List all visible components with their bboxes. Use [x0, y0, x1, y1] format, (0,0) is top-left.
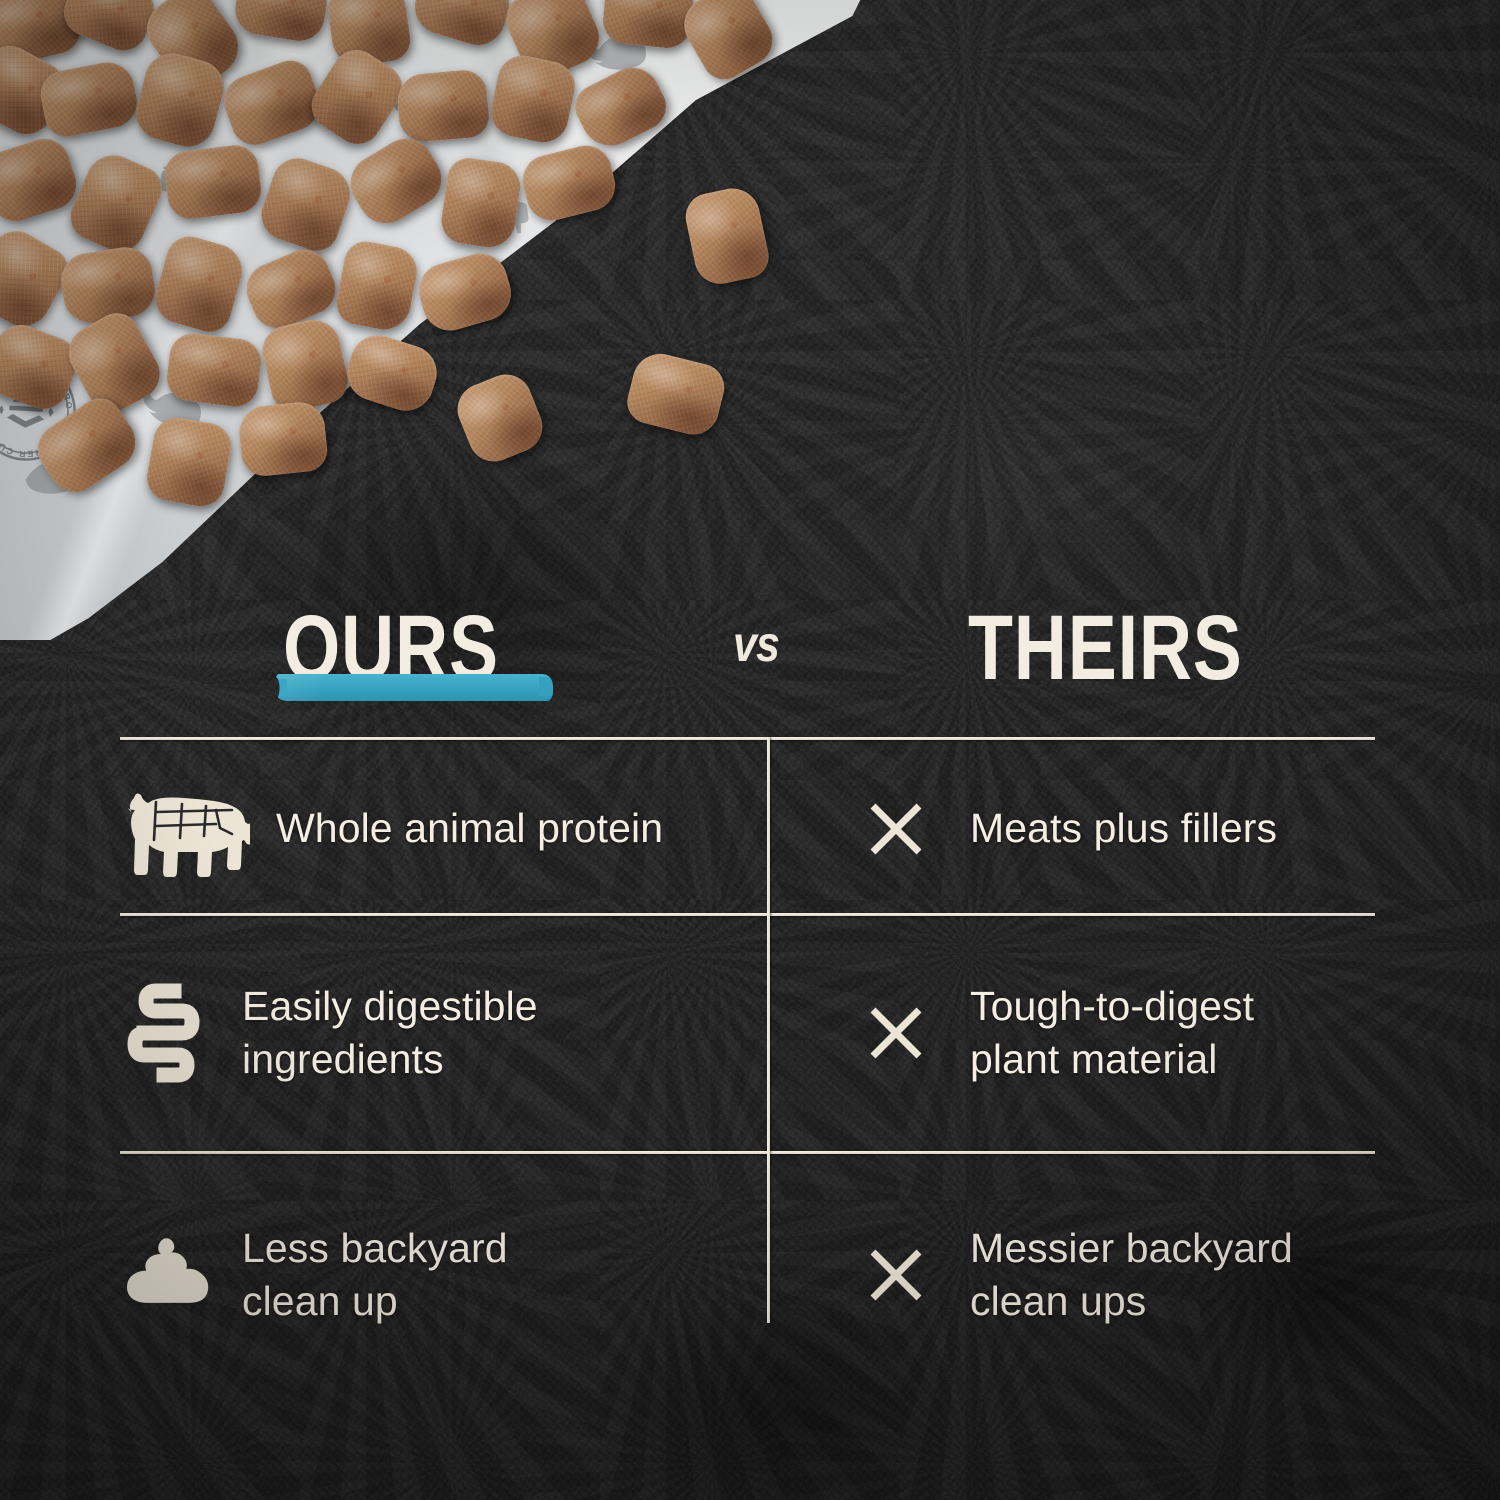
row-text-ours: Easily digestible ingredients	[242, 980, 538, 1087]
table-rule-middle	[120, 913, 1375, 916]
cow-butcher-cuts-icon	[120, 780, 250, 878]
table-rule-bottom	[120, 1151, 1375, 1154]
table-row: Tough-to-digest plant material	[848, 968, 1388, 1098]
table-row: Whole animal protein	[120, 776, 760, 881]
poop-icon	[120, 1229, 216, 1321]
row-text-ours-line1: Easily digestible	[242, 980, 538, 1033]
comparison-graphic: BUTCHER CUT PROTEIN BUTCHER CUT PROTEIN	[0, 0, 1500, 1500]
table-row: Easily digestible ingredients	[120, 968, 760, 1098]
table-row: Meats plus fillers	[848, 776, 1388, 881]
table-column-divider	[767, 737, 770, 1323]
row-text-ours: Whole animal protein	[276, 802, 663, 855]
row-text-theirs: Messier backyard clean ups	[970, 1222, 1293, 1329]
row-text-ours-line2: clean up	[242, 1275, 508, 1328]
row-text-theirs-line2: clean ups	[970, 1275, 1293, 1328]
x-mark-icon	[848, 1004, 944, 1062]
row-text-ours-line2: ingredients	[242, 1033, 538, 1086]
row-text-theirs-line1: Messier backyard	[970, 1222, 1293, 1275]
row-text-theirs: Tough-to-digest plant material	[970, 980, 1254, 1087]
x-mark-icon	[848, 800, 944, 858]
row-text-ours-line1: Less backyard	[242, 1222, 508, 1275]
intestine-icon	[120, 981, 216, 1085]
row-text-ours: Less backyard clean up	[242, 1222, 508, 1329]
x-mark-icon	[848, 1246, 944, 1304]
ours-underline-brush	[275, 674, 553, 701]
comparison-table: OURS THEIRS vs	[0, 0, 1500, 1500]
column-header-theirs: THEIRS	[968, 602, 1243, 694]
vs-label: vs	[733, 615, 779, 673]
table-rule-top	[120, 737, 1375, 740]
row-text-theirs-line1: Tough-to-digest	[970, 980, 1254, 1033]
table-row: Messier backyard clean ups	[848, 1210, 1388, 1340]
table-row: Less backyard clean up	[120, 1210, 760, 1340]
row-text-theirs-line2: plant material	[970, 1033, 1254, 1086]
row-text-theirs: Meats plus fillers	[970, 802, 1277, 855]
